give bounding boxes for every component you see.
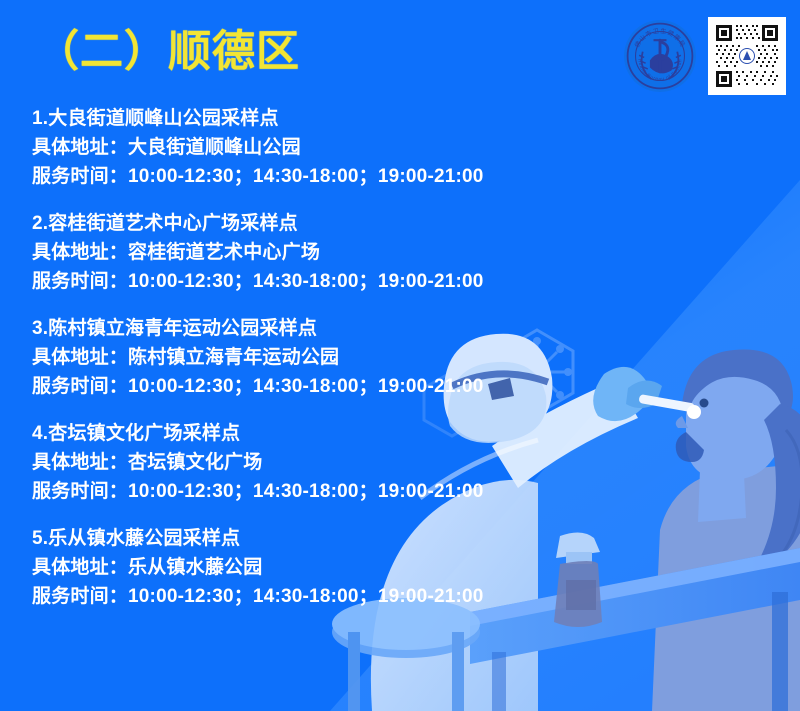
health-bureau-logo-icon: 佛山市卫生健康局 Health Bureau of Foshan — [624, 20, 696, 92]
site-hours: 服务时间：10:00-12:30；14:30-18:00；19:00-21:00 — [32, 477, 672, 506]
site-address: 具体地址：乐从镇水藤公园 — [32, 553, 672, 582]
sampling-site-list: 1.大良街道顺峰山公园采样点 具体地址：大良街道顺峰山公园 服务时间：10:00… — [32, 104, 672, 611]
address-label: 具体地址： — [32, 452, 128, 473]
patient-figure — [652, 349, 800, 711]
address-label: 具体地址： — [32, 137, 128, 158]
hexagon-capsule-icon — [711, 355, 779, 434]
hours-label: 服务时间： — [32, 376, 128, 397]
site-name: 5.乐从镇水藤公园采样点 — [32, 524, 672, 553]
site-address: 具体地址：杏坛镇文化广场 — [32, 448, 672, 477]
address-label: 具体地址： — [32, 242, 128, 263]
qr-code[interactable] — [708, 17, 786, 95]
site-name: 4.杏坛镇文化广场采样点 — [32, 419, 672, 448]
site-hours: 服务时间：10:00-12:30；14:30-18:00；19:00-21:00 — [32, 582, 672, 611]
address-label: 具体地址： — [32, 347, 128, 368]
site-hours: 服务时间：10:00-12:30；14:30-18:00；19:00-21:00 — [32, 372, 672, 401]
hours-label: 服务时间： — [32, 271, 128, 292]
poster-root: （二）顺德区 — [0, 0, 800, 711]
address-value: 杏坛镇文化广场 — [128, 452, 262, 473]
stool — [332, 598, 480, 711]
hours-value: 10:00-12:30；14:30-18:00；19:00-21:00 — [128, 586, 484, 607]
site-hours: 服务时间：10:00-12:30；14:30-18:00；19:00-21:00 — [32, 162, 672, 191]
hours-value: 10:00-12:30；14:30-18:00；19:00-21:00 — [128, 481, 484, 502]
hours-label: 服务时间： — [32, 586, 128, 607]
header-marks: 佛山市卫生健康局 Health Bureau of Foshan — [624, 17, 786, 95]
address-value: 容桂街道艺术中心广场 — [128, 242, 320, 263]
site-name: 3.陈村镇立海青年运动公园采样点 — [32, 314, 672, 343]
page-title: （二）顺德区 — [36, 24, 300, 80]
hours-value: 10:00-12:30；14:30-18:00；19:00-21:00 — [128, 376, 484, 397]
hours-value: 10:00-12:30；14:30-18:00；19:00-21:00 — [128, 271, 484, 292]
site-address: 具体地址：大良街道顺峰山公园 — [32, 133, 672, 162]
address-value: 陈村镇立海青年运动公园 — [128, 347, 339, 368]
hours-label: 服务时间： — [32, 481, 128, 502]
list-item: 1.大良街道顺峰山公园采样点 具体地址：大良街道顺峰山公园 服务时间：10:00… — [32, 104, 672, 191]
site-name: 2.容桂街道艺术中心广场采样点 — [32, 209, 672, 238]
hours-label: 服务时间： — [32, 166, 128, 187]
site-address: 具体地址：陈村镇立海青年运动公园 — [32, 343, 672, 372]
site-address: 具体地址：容桂街道艺术中心广场 — [32, 238, 672, 267]
address-value: 乐从镇水藤公园 — [128, 557, 262, 578]
address-label: 具体地址： — [32, 557, 128, 578]
list-item: 3.陈村镇立海青年运动公园采样点 具体地址：陈村镇立海青年运动公园 服务时间：1… — [32, 314, 672, 401]
list-item: 5.乐从镇水藤公园采样点 具体地址：乐从镇水藤公园 服务时间：10:00-12:… — [32, 524, 672, 611]
list-item: 4.杏坛镇文化广场采样点 具体地址：杏坛镇文化广场 服务时间：10:00-12:… — [32, 419, 672, 506]
site-name: 1.大良街道顺峰山公园采样点 — [32, 104, 672, 133]
hours-value: 10:00-12:30；14:30-18:00；19:00-21:00 — [128, 166, 484, 187]
poster-header: （二）顺德区 — [0, 0, 800, 100]
site-hours: 服务时间：10:00-12:30；14:30-18:00；19:00-21:00 — [32, 267, 672, 296]
address-value: 大良街道顺峰山公园 — [128, 137, 301, 158]
list-item: 2.容桂街道艺术中心广场采样点 具体地址：容桂街道艺术中心广场 服务时间：10:… — [32, 209, 672, 296]
